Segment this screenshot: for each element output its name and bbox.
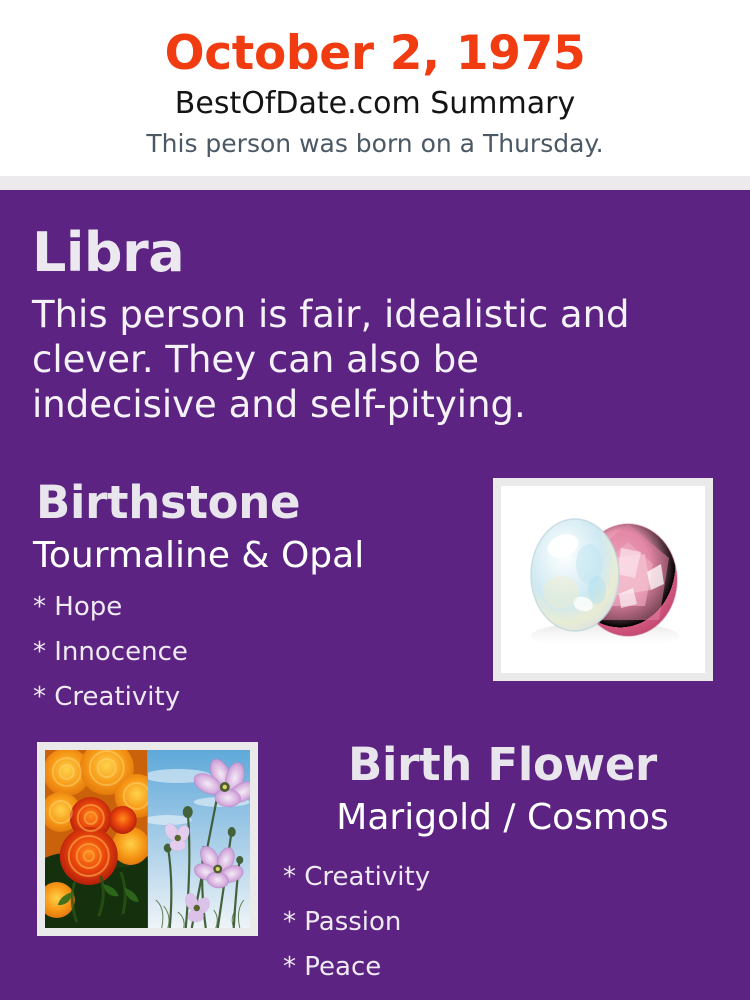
- marigold-photo-half: [45, 750, 148, 928]
- birth-flower-heading: Birth Flower: [285, 738, 720, 792]
- birth-flower-trait-list: * Creativity * Passion * Peace: [283, 855, 713, 990]
- header-divider: [0, 176, 750, 190]
- birth-flower-name: Marigold / Cosmos: [285, 796, 720, 840]
- birthstone-heading: Birthstone: [36, 476, 300, 530]
- birth-flower-photo-frame: [37, 742, 258, 936]
- list-item: * Passion: [283, 900, 713, 945]
- zodiac-sign-title: Libra: [32, 222, 184, 284]
- weekday-note: This person was born on a Thursday.: [0, 128, 750, 160]
- opal-gem: [531, 519, 619, 631]
- site-summary-label: BestOfDate.com Summary: [0, 86, 750, 122]
- summary-card: October 2, 1975 BestOfDate.com Summary T…: [0, 0, 750, 1000]
- list-item: * Innocence: [33, 630, 453, 675]
- gemstone-icon: [501, 486, 705, 673]
- birth-flower-photo: [45, 750, 250, 928]
- cosmos-icon: [148, 750, 251, 928]
- cosmos-photo-half: [148, 750, 251, 928]
- flower-split-illustration: [45, 750, 250, 928]
- header: October 2, 1975 BestOfDate.com Summary T…: [0, 0, 750, 176]
- birthstone-trait-list: * Hope * Innocence * Creativity: [33, 585, 453, 720]
- list-item: * Creativity: [283, 855, 713, 900]
- marigold-icon: [45, 750, 148, 928]
- birthstone-photo-frame: [493, 478, 713, 681]
- zodiac-description: This person is fair, idealistic and clev…: [32, 292, 632, 427]
- list-item: * Creativity: [33, 675, 453, 720]
- page-title-date: October 2, 1975: [0, 26, 750, 82]
- gemstone-illustration: [501, 486, 705, 673]
- birthstone-photo: [501, 486, 705, 673]
- list-item: * Peace: [283, 945, 713, 990]
- list-item: * Hope: [33, 585, 453, 630]
- birthstone-name: Tourmaline & Opal: [33, 534, 364, 578]
